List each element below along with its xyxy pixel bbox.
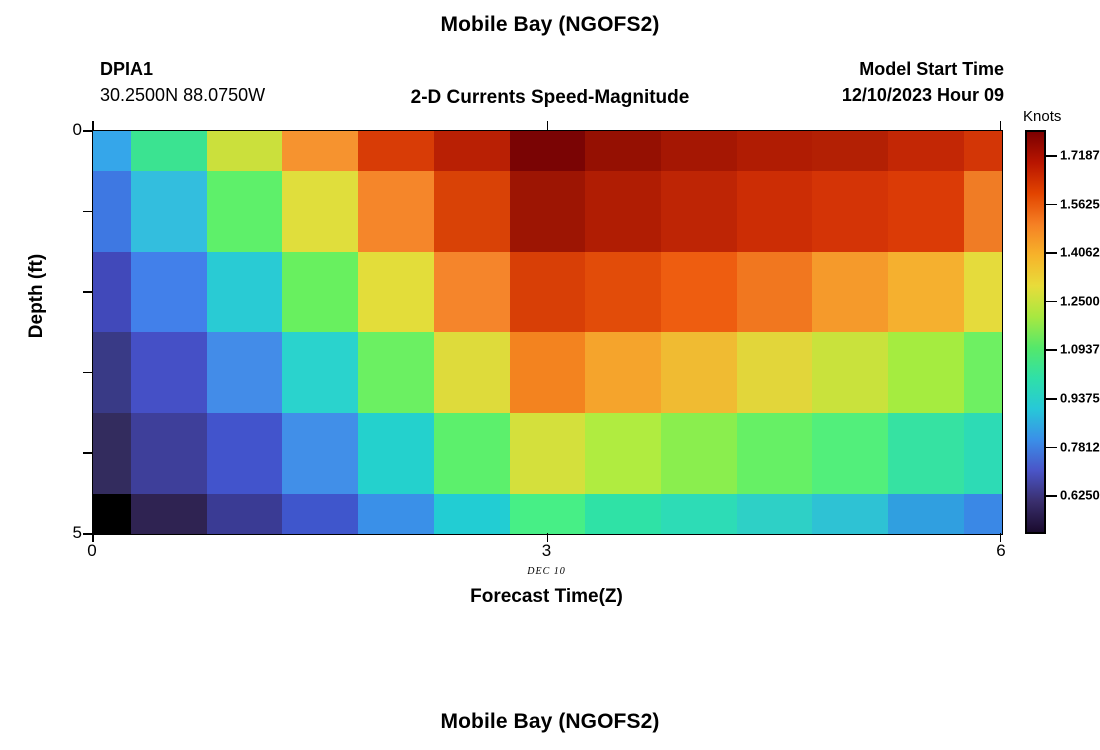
heatmap-cell [737, 494, 813, 534]
heatmap-cell [434, 494, 510, 534]
heatmap-cell [661, 171, 737, 252]
station-id: DPIA1 [100, 56, 265, 82]
heatmap-cell [585, 252, 661, 333]
heatmap-cell [661, 332, 737, 413]
y-axis-title: Depth (ft) [26, 216, 48, 376]
heatmap-cell [888, 252, 964, 333]
colorbar-tick-label: 0.93750 [1060, 391, 1100, 406]
y-axis-tick [83, 533, 92, 535]
heatmap-cell [812, 171, 888, 252]
model-start-label: Model Start Time [842, 56, 1004, 82]
heatmap-cell [93, 413, 131, 494]
heatmap-cell [282, 413, 358, 494]
heatmap-cell [434, 131, 510, 171]
heatmap-cell [282, 171, 358, 252]
heatmap-cell [131, 171, 207, 252]
colorbar-tick-label: 1.25000 [1060, 293, 1100, 308]
heatmap-cell [888, 332, 964, 413]
heatmap-cell [358, 131, 434, 171]
date-annotation: DEC 10 [92, 566, 1001, 577]
heatmap-cell [812, 332, 888, 413]
chart-page: Mobile Bay (NGOFS2) DPIA1 30.2500N 88.07… [0, 0, 1100, 750]
heatmap-cell [131, 131, 207, 171]
heatmap-cell [358, 171, 434, 252]
colorbar-tick [1046, 204, 1057, 206]
colorbar-tick-label: 0.78125 [1060, 439, 1100, 454]
heatmap-cell [131, 252, 207, 333]
heatmap-cell [207, 171, 283, 252]
x-axis-tick [547, 533, 549, 542]
heatmap-row [93, 332, 1002, 413]
heatmap-cell [358, 494, 434, 534]
heatmap-cell [964, 332, 1002, 413]
x-axis-tick-label: 0 [72, 541, 112, 561]
colorbar-tick [1046, 155, 1057, 157]
colorbar-title: Knots [1023, 108, 1061, 125]
colorbar-tick [1046, 252, 1057, 254]
colorbar-gradient [1027, 132, 1044, 532]
heatmap-cell [434, 252, 510, 333]
y-axis-tick-label: 0 [52, 120, 82, 140]
heatmap-cell [964, 171, 1002, 252]
colorbar-tick-label: 0.62500 [1060, 488, 1100, 503]
heatmap-cell [964, 252, 1002, 333]
x-axis-tick-labels: 036 [92, 541, 1001, 563]
heatmap-cell [282, 494, 358, 534]
colorbar-tick [1046, 447, 1057, 449]
colorbar-gradient-bar [1025, 130, 1046, 534]
heatmap-cell [93, 332, 131, 413]
heatmap-cell [358, 332, 434, 413]
heatmap-cell [888, 171, 964, 252]
colorbar-tick-label: 1.09375 [1060, 342, 1100, 357]
heatmap-cell [510, 332, 586, 413]
heatmap-cell [131, 332, 207, 413]
heatmap-row [93, 252, 1002, 333]
heatmap-cell [812, 413, 888, 494]
heatmap-cell [207, 413, 283, 494]
y-axis-tick [83, 291, 92, 293]
heatmap-cell [888, 494, 964, 534]
colorbar-tick [1046, 495, 1057, 497]
x-axis-title: Forecast Time(Z) [92, 586, 1001, 608]
heatmap-cell [510, 413, 586, 494]
heatmap-cell [661, 413, 737, 494]
model-start-block: Model Start Time 12/10/2023 Hour 09 [842, 56, 1004, 108]
colorbar-tick [1046, 301, 1057, 303]
x-axis-tick-top [547, 121, 549, 130]
heatmap-cell [510, 494, 586, 534]
heatmap-cell [964, 494, 1002, 534]
x-axis-tick [1000, 533, 1002, 542]
heatmap-cell [585, 494, 661, 534]
heatmap-cell [282, 332, 358, 413]
heatmap-grid [93, 131, 1002, 534]
y-axis-tick [83, 372, 92, 374]
colorbar-tick-label: 1.71875 [1060, 148, 1100, 163]
y-axis-tick [83, 130, 92, 132]
heatmap-cell [358, 413, 434, 494]
heatmap-cell [93, 252, 131, 333]
x-axis-tick-label: 6 [981, 541, 1021, 561]
colorbar-tick-label: 1.40625 [1060, 245, 1100, 260]
model-start-value: 12/10/2023 Hour 09 [842, 82, 1004, 108]
heatmap-cell [737, 252, 813, 333]
heatmap-row [93, 413, 1002, 494]
heatmap-cell [131, 413, 207, 494]
y-axis-tick [83, 211, 92, 213]
heatmap-cell [358, 252, 434, 333]
heatmap-row [93, 131, 1002, 171]
x-axis-tick-label: 3 [527, 541, 567, 561]
heatmap-cell [964, 131, 1002, 171]
heatmap-plot-area [92, 130, 1003, 535]
heatmap-cell [510, 252, 586, 333]
heatmap-cell [282, 131, 358, 171]
heatmap-cell [888, 413, 964, 494]
heatmap-cell [585, 332, 661, 413]
heatmap-cell [964, 413, 1002, 494]
heatmap-row [93, 171, 1002, 252]
heatmap-cell [207, 494, 283, 534]
heatmap-cell [585, 171, 661, 252]
heatmap-cell [434, 332, 510, 413]
page-title-top: Mobile Bay (NGOFS2) [0, 13, 1100, 37]
heatmap-cell [812, 494, 888, 534]
heatmap-cell [510, 171, 586, 252]
heatmap-cell [661, 131, 737, 171]
heatmap-cell [812, 252, 888, 333]
heatmap-cell [93, 131, 131, 171]
heatmap-cell [93, 494, 131, 534]
y-axis-tick-labels: 05 [50, 130, 82, 533]
heatmap-cell [812, 131, 888, 171]
heatmap-cell [737, 332, 813, 413]
heatmap-cell [888, 131, 964, 171]
heatmap-cell [93, 171, 131, 252]
heatmap-cell [661, 252, 737, 333]
heatmap-cell [737, 131, 813, 171]
page-title-bottom: Mobile Bay (NGOFS2) [0, 710, 1100, 734]
heatmap-row [93, 494, 1002, 534]
heatmap-cell [661, 494, 737, 534]
heatmap-cell [131, 494, 207, 534]
colorbar-tick [1046, 349, 1057, 351]
colorbar-tick [1046, 398, 1057, 400]
heatmap-cell [585, 131, 661, 171]
heatmap-cell [207, 332, 283, 413]
y-axis-tick-label: 5 [52, 523, 82, 543]
heatmap-cell [585, 413, 661, 494]
heatmap-cell [737, 171, 813, 252]
x-axis-tick-top [92, 121, 94, 130]
heatmap-cell [434, 413, 510, 494]
y-axis-tick [83, 452, 92, 454]
heatmap-cell [207, 131, 283, 171]
colorbar: Knots 1.718751.562501.406251.250001.0937… [1025, 130, 1100, 534]
heatmap-cell [737, 413, 813, 494]
heatmap-cell [434, 171, 510, 252]
colorbar-tick-label: 1.56250 [1060, 196, 1100, 211]
x-axis-tick [92, 533, 94, 542]
heatmap-cell [282, 252, 358, 333]
heatmap-cell [510, 131, 586, 171]
heatmap-cell [207, 252, 283, 333]
x-axis-tick-top [1000, 121, 1002, 130]
